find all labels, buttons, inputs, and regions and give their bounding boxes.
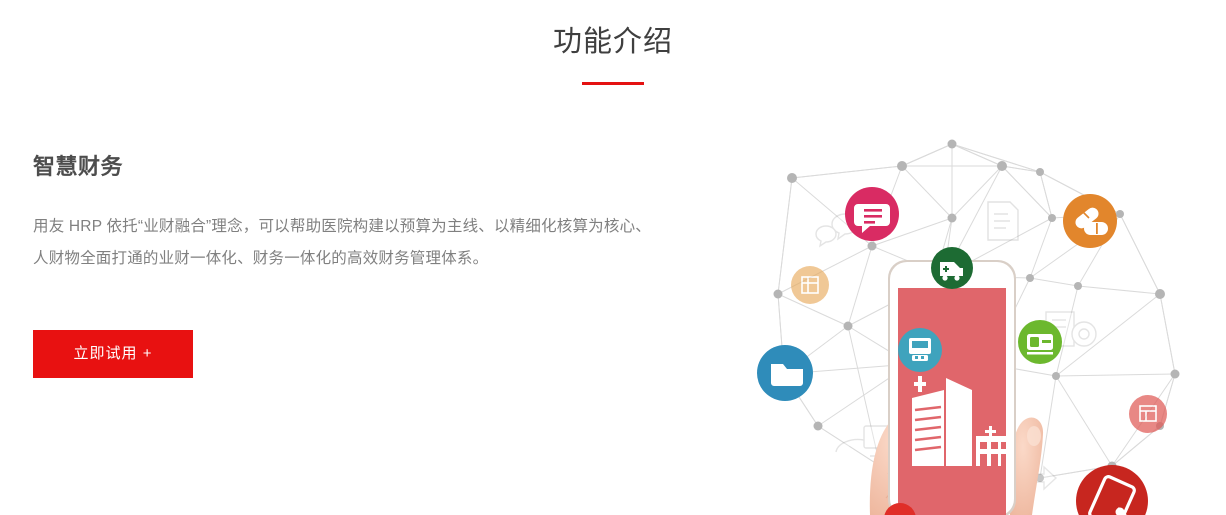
feature-section-page: 功能介绍 智慧财务 用友 HRP 依托“业财融合”理念，可以帮助医院构建以预算为…	[0, 0, 1226, 515]
document-ghost-icon	[988, 202, 1018, 240]
illustration-svg	[740, 126, 1226, 515]
feature-heading: 智慧财务	[33, 152, 673, 182]
icon-bubble-chat[interactable]	[845, 187, 899, 241]
page-title: 功能介绍	[0, 22, 1226, 62]
icon-bubble-calendar-faded[interactable]	[1129, 395, 1167, 433]
feature-description: 用友 HRP 依托“业财融合”理念，可以帮助医院构建以预算为主线、以精细化核算为…	[33, 211, 661, 275]
feature-text-column: 智慧财务 用友 HRP 依托“业财融合”理念，可以帮助医院构建以预算为主线、以精…	[33, 152, 673, 275]
trial-button[interactable]: 立即试用 +	[33, 330, 193, 378]
icon-bubble-folder[interactable]	[757, 345, 813, 401]
icon-bubble-pill[interactable]	[1063, 194, 1117, 248]
icon-bubble-grid-faded[interactable]	[791, 266, 829, 304]
icon-bubble-bed[interactable]	[1018, 320, 1062, 364]
feature-illustration	[740, 126, 1226, 515]
section-header: 功能介绍	[0, 22, 1226, 85]
icon-bubble-nurse[interactable]	[898, 328, 942, 372]
icon-bubble-mobile[interactable]	[1076, 465, 1148, 515]
icon-bubble-ambulance[interactable]	[931, 247, 973, 289]
nurse-monitor-icon	[909, 338, 931, 361]
title-underline-rule	[582, 82, 644, 85]
